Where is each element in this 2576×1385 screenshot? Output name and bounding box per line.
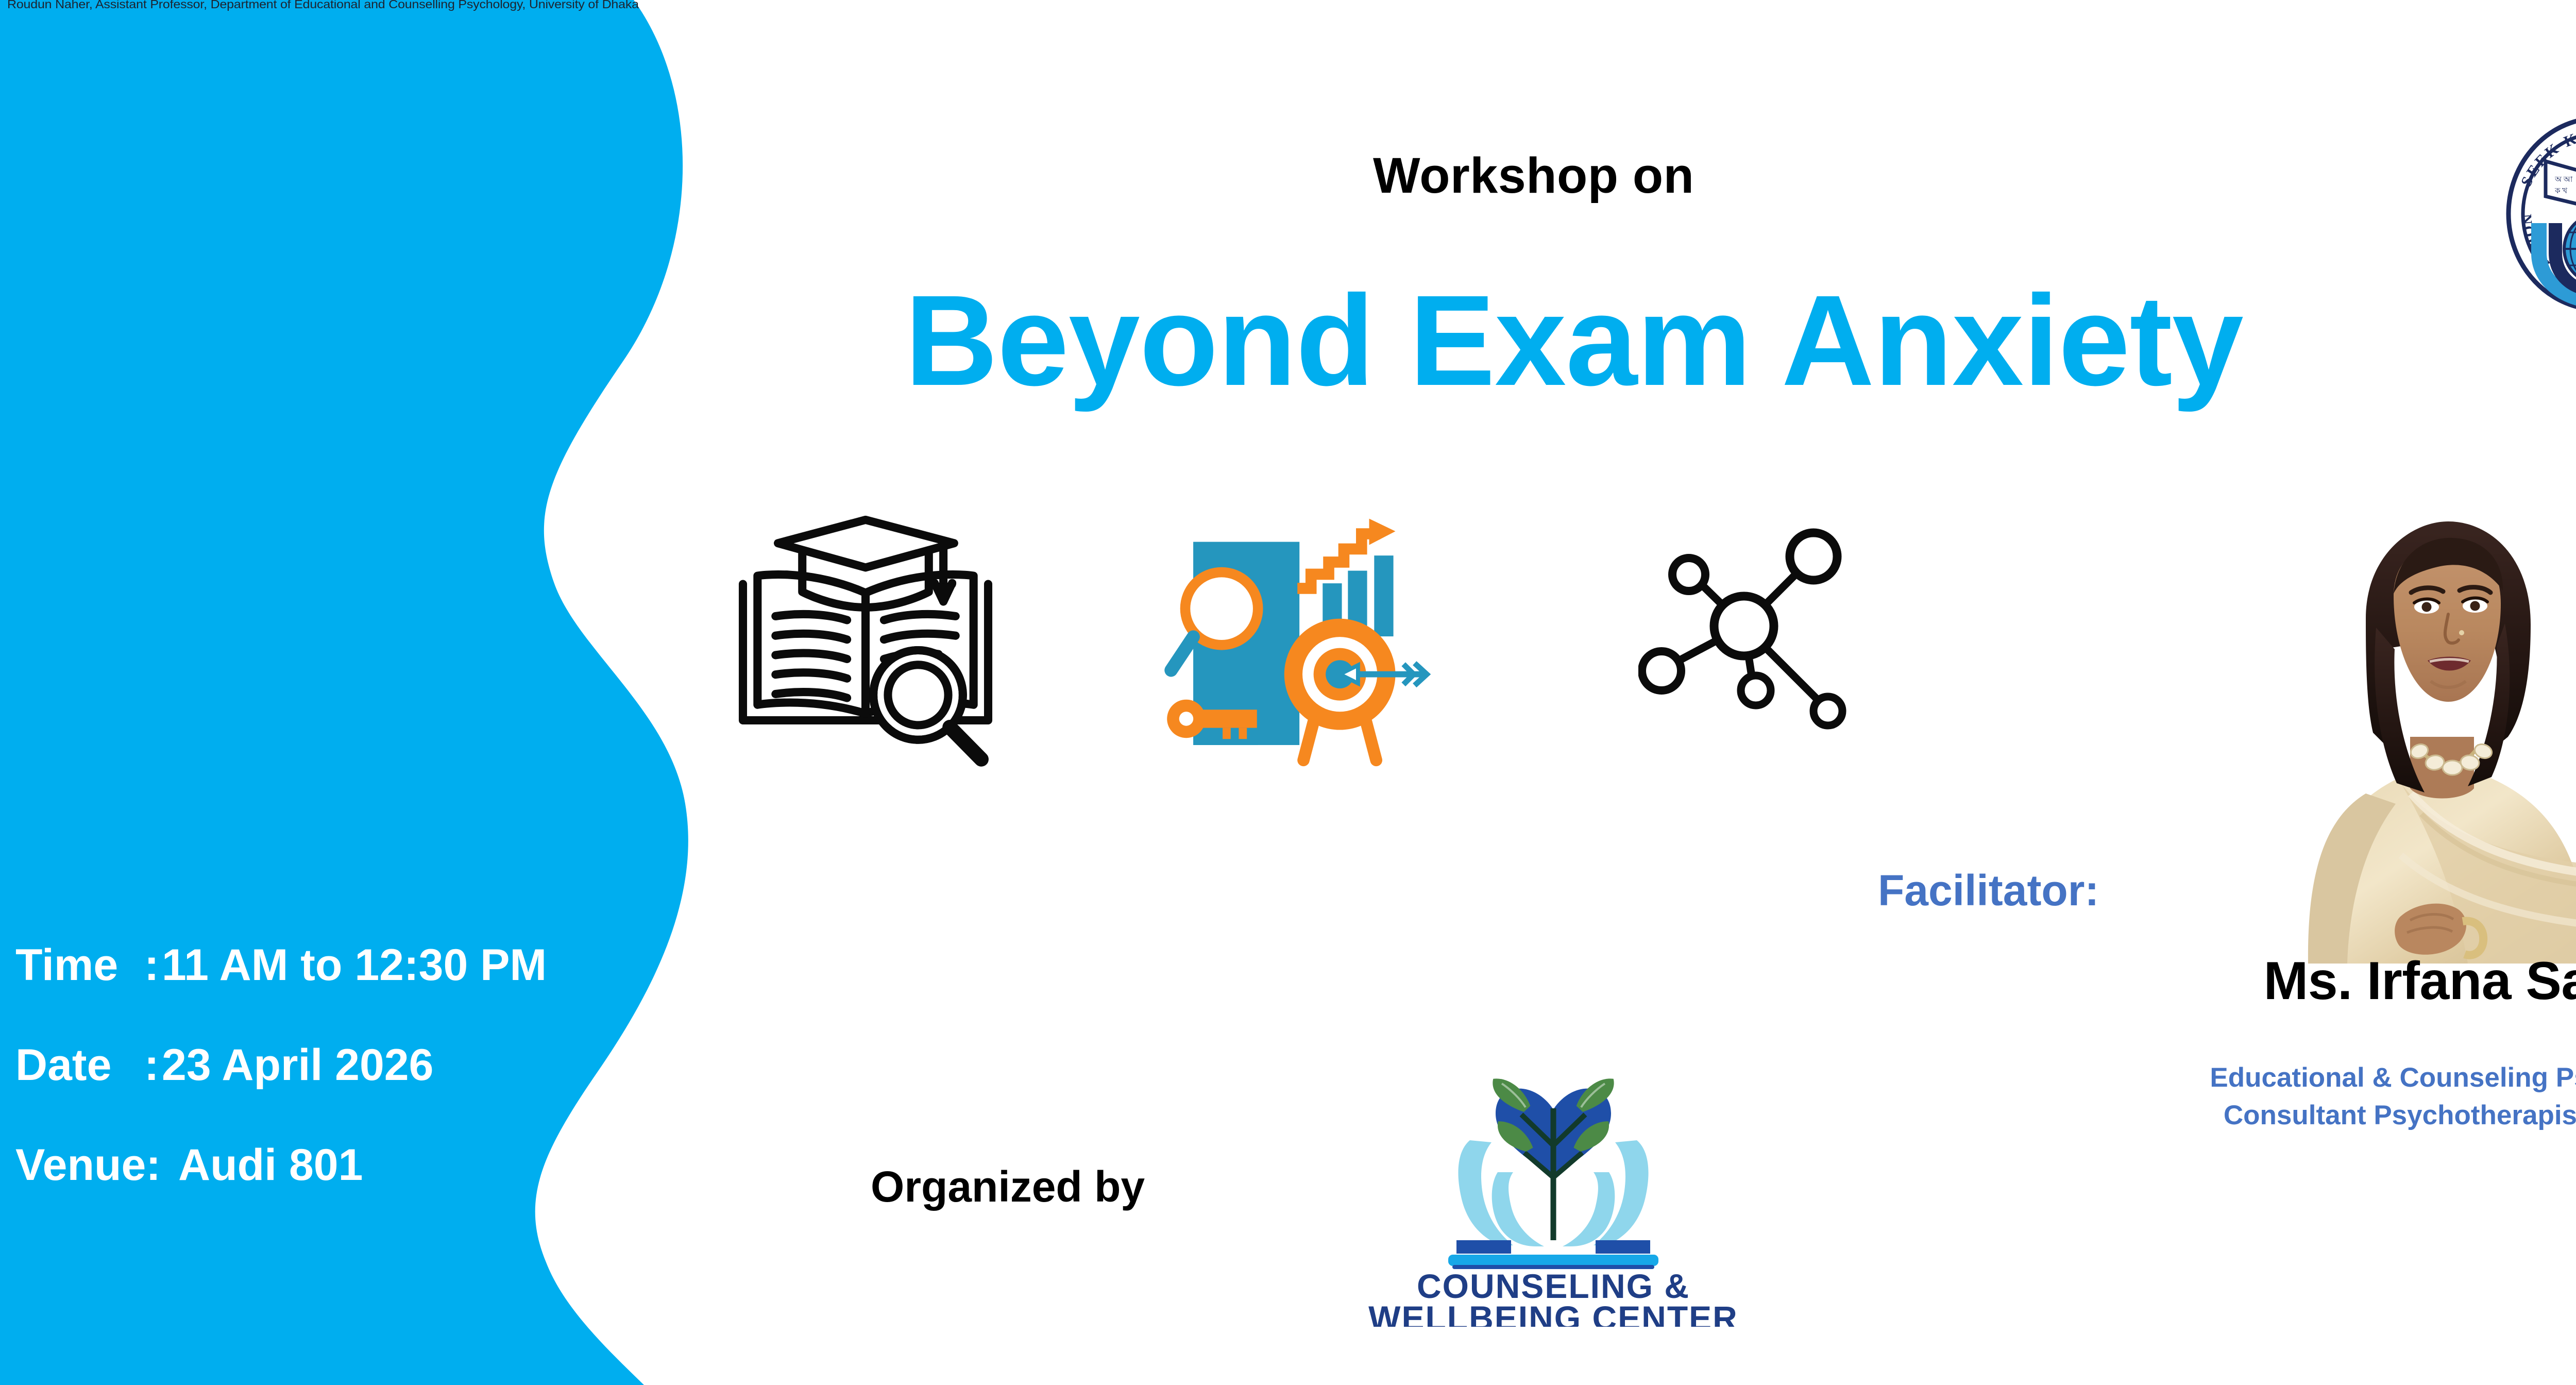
venue-separator <box>161 1143 178 1187</box>
eyebrow-workshop-on: Workshop on <box>1373 147 1694 205</box>
event-detail-venue: Venue: Audi 801 <box>15 1143 608 1187</box>
facilitator-name: Ms. Irfana Samia <box>2200 951 2576 1012</box>
time-separator: : <box>144 943 162 987</box>
source-caption: Roudun Naher, Assistant Professor, Depar… <box>7 0 651 12</box>
north-south-university-seal: SEEK KNOWLEDGE NORTH SOUTH UNIVERSITY অ … <box>2501 111 2576 314</box>
page-title: Beyond Exam Anxiety <box>750 273 2398 409</box>
book-graduation-magnifier-icon <box>726 510 1005 773</box>
venue-label: Venue: <box>15 1143 161 1187</box>
date-label: Date <box>15 1043 144 1087</box>
facilitator-label: Facilitator: <box>1878 866 2099 916</box>
facilitator-role-line-1: Educational & Counseling Psychologist <box>2179 1059 2576 1096</box>
counseling-wellbeing-center-logo: COUNSELING & WELLBEING CENTER <box>1347 1007 1759 1327</box>
date-value: 23 April 2026 <box>162 1043 433 1087</box>
organized-by-label: Organized by <box>871 1162 1145 1212</box>
network-nodes-icon <box>1638 520 1860 742</box>
facilitator-photo <box>2246 495 2576 964</box>
venue-value: Audi 801 <box>178 1143 363 1187</box>
event-detail-date: Date : 23 April 2026 <box>15 1043 608 1087</box>
event-details-block: Time : 11 AM to 12:30 PM Date : 23 April… <box>15 943 608 1187</box>
svg-text:ক খ: ক খ <box>2554 187 2568 195</box>
time-label: Time <box>15 943 144 987</box>
facilitator-role: Educational & Counseling Psychologist Co… <box>2179 1059 2576 1134</box>
facilitator-role-line-2: Consultant Psychotherapist & Trainer <box>2179 1096 2576 1134</box>
time-value: 11 AM to 12:30 PM <box>162 943 547 987</box>
date-separator: : <box>144 1043 162 1087</box>
cwc-logo-line-2: WELLBEING CENTER <box>1368 1299 1738 1327</box>
svg-text:অ আ: অ আ <box>2554 176 2573 184</box>
analytics-target-key-icon <box>1159 508 1448 770</box>
poster-canvas: Roudun Naher, Assistant Professor, Depar… <box>0 0 2576 1385</box>
event-detail-time: Time : 11 AM to 12:30 PM <box>15 943 608 987</box>
